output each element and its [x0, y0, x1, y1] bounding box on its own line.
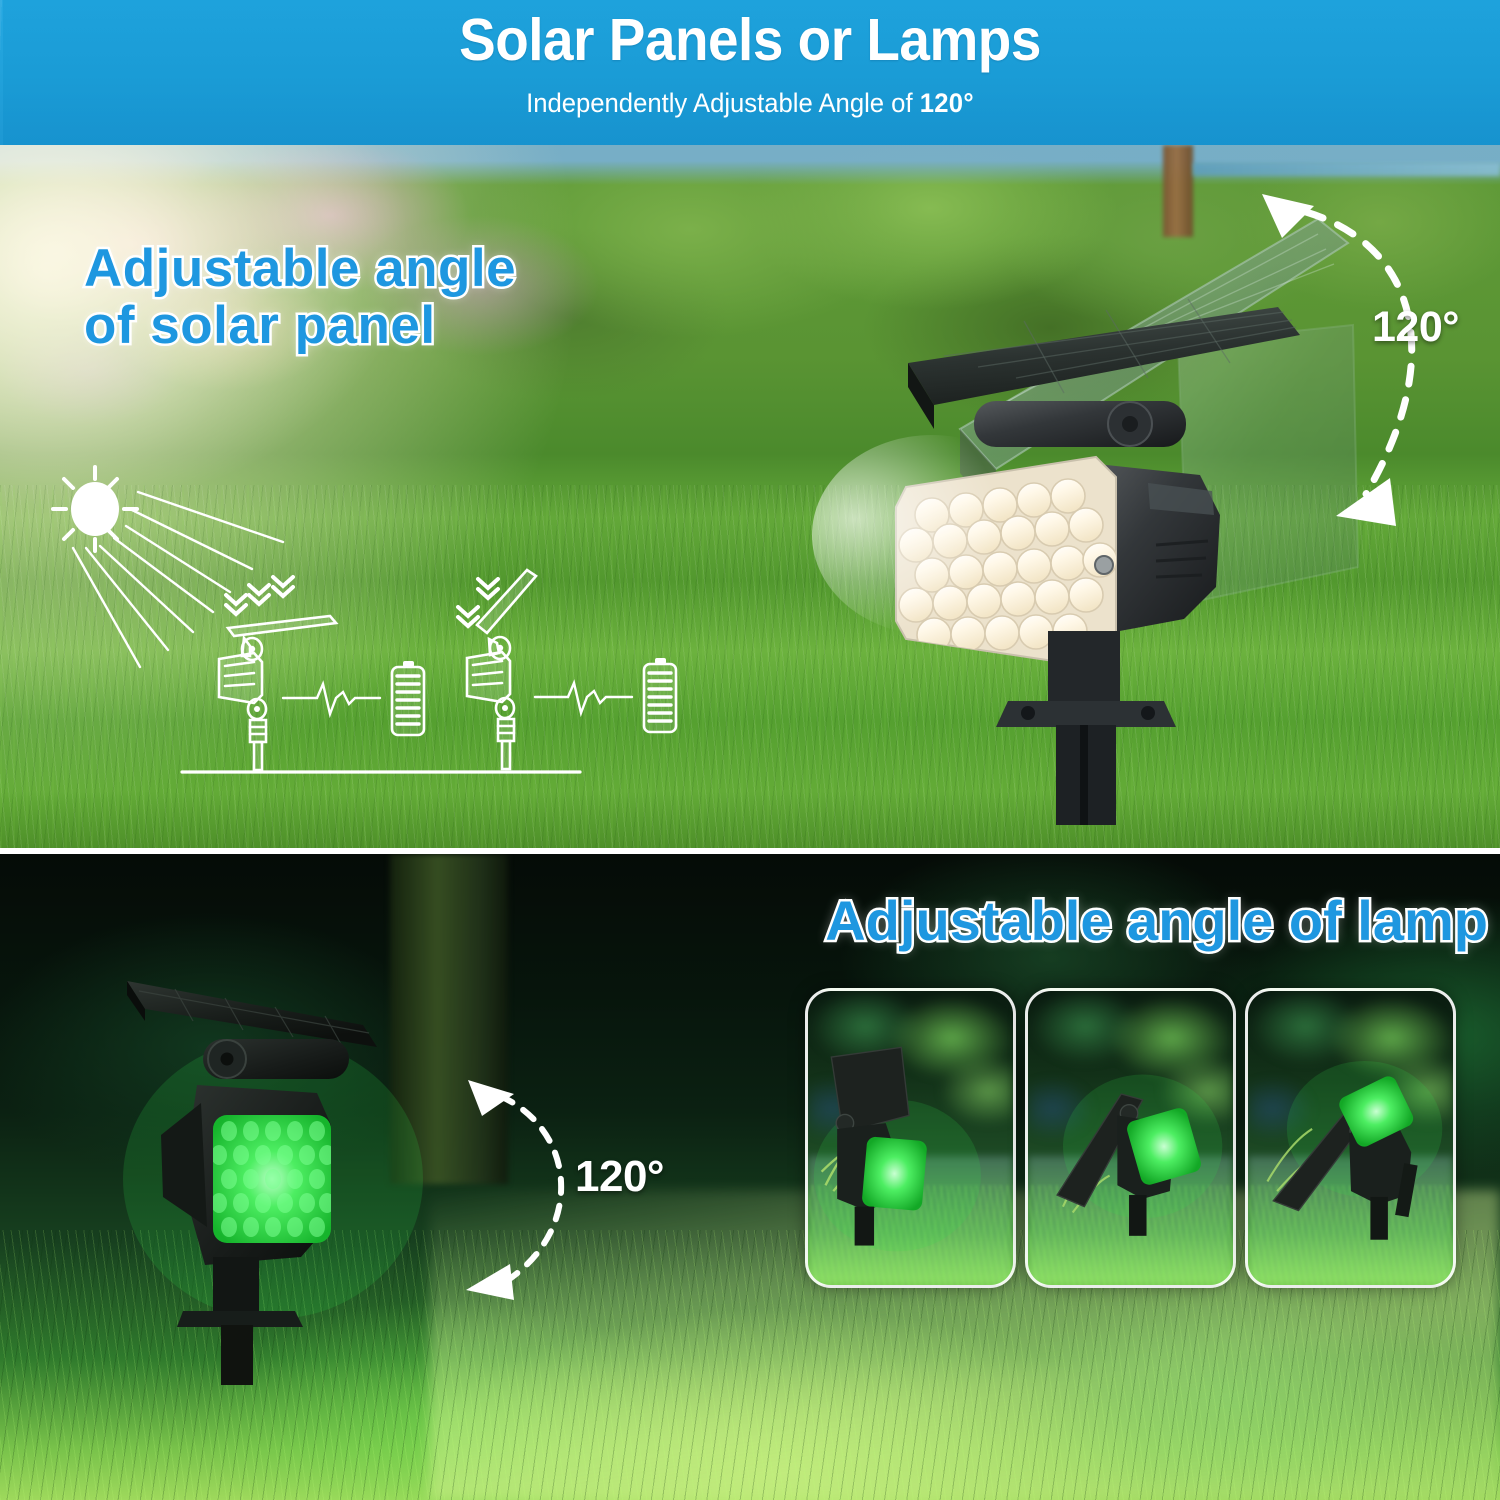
hinge-joint [974, 401, 1186, 447]
header-subtitle-text: Independently Adjustable Angle of [526, 88, 920, 118]
arrow-head-down [1336, 478, 1396, 526]
header-subtitle-angle: 120° [920, 88, 974, 118]
sun-icon [71, 482, 119, 536]
page-title: Solar Panels or Lamps [53, 7, 1448, 73]
chevrons-left [226, 577, 293, 614]
top-headline-line1: Adjustable angle [84, 240, 804, 297]
charging-diagram [40, 452, 745, 777]
lamp-icon-raised [467, 570, 536, 769]
thumbnail-strip [805, 988, 1457, 1288]
arrow-head-up-bottom [468, 1080, 514, 1116]
battery-icon-1 [392, 661, 424, 735]
thumbnail-lamp-angle-low[interactable] [805, 988, 1016, 1288]
charge-waveform-2 [535, 683, 632, 713]
top-headline-line2: of solar panel [84, 297, 804, 354]
thumbnail-lamp-angle-high[interactable] [1245, 988, 1456, 1288]
thumb-lamp-render-1 [808, 991, 1013, 1282]
thumb-lamp-render-3 [1248, 991, 1453, 1282]
product-infographic-page: Solar Panels or Lamps Independently Adju… [0, 0, 1500, 1500]
arrow-head-down-bottom [466, 1264, 514, 1300]
top-headline: Adjustable angle of solar panel [84, 240, 804, 354]
charge-waveform-1 [283, 684, 380, 714]
hinge-joint-bottom [203, 1039, 349, 1079]
arrow-head-up [1262, 194, 1314, 238]
header-subtitle: Independently Adjustable Angle of 120° [38, 86, 1463, 120]
angle-label-top: 120° [1372, 303, 1459, 352]
header-banner: Solar Panels or Lamps Independently Adju… [0, 0, 1500, 145]
thumbnail-lamp-angle-mid[interactable] [1025, 988, 1236, 1288]
ground-stake [996, 631, 1176, 825]
angle-arc-top [1248, 168, 1484, 538]
led-array-green [211, 1115, 335, 1243]
bottom-headline: Adjustable angle of lamp [498, 890, 1488, 952]
angle-label-bottom: 120° [575, 1152, 664, 1202]
solar-panel-dark [127, 981, 377, 1047]
battery-icon-2 [644, 658, 676, 732]
thumb-lamp-render-2 [1028, 991, 1233, 1282]
panel-divider [0, 848, 1500, 854]
